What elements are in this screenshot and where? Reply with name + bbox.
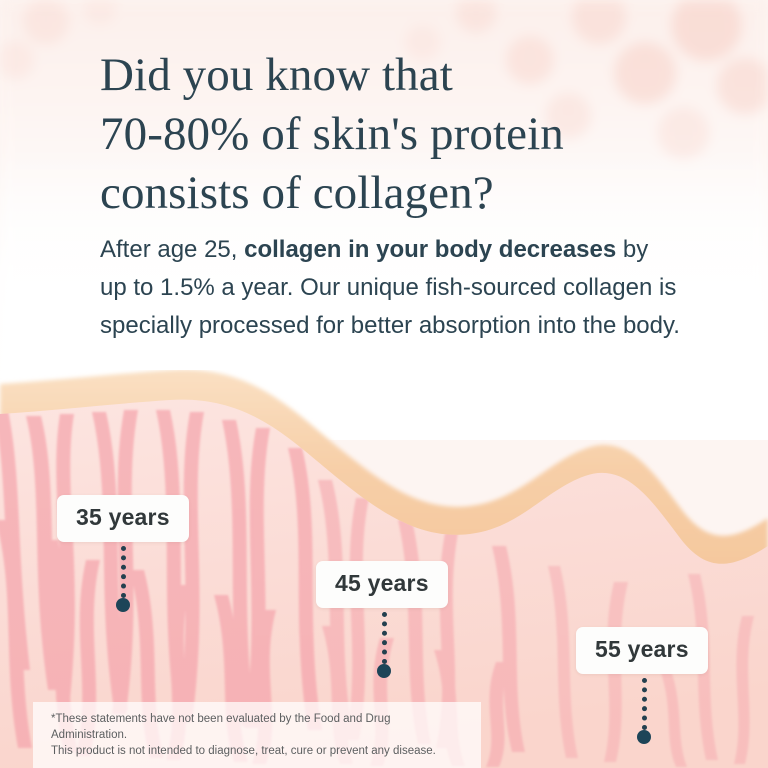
callout-label-35[interactable]: 35 years: [57, 495, 189, 542]
page-title: Did you know that 70-80% of skin's prote…: [100, 46, 700, 223]
callout-55-years: 55 years: [576, 627, 712, 674]
leader-line-45: [382, 612, 392, 664]
leader-line-55: [642, 678, 652, 730]
disclaimer-text: *These statements have not been evaluate…: [33, 702, 481, 768]
callout-label-55[interactable]: 55 years: [576, 627, 708, 674]
marker-dot-35: [116, 598, 130, 612]
body-copy: After age 25, collagen in your body decr…: [100, 231, 680, 345]
callout-label-45[interactable]: 45 years: [316, 561, 448, 608]
infographic-poster: Did you know that 70-80% of skin's prote…: [0, 0, 768, 768]
body-copy-emphasis: collagen in your body decreases: [244, 236, 616, 263]
callout-45-years: 45 years: [316, 561, 452, 608]
marker-dot-45: [377, 664, 391, 678]
body-copy-part1: After age 25,: [100, 236, 244, 263]
marker-dot-55: [637, 730, 651, 744]
leader-line-35: [121, 546, 131, 598]
callout-35-years: 35 years: [57, 495, 189, 542]
